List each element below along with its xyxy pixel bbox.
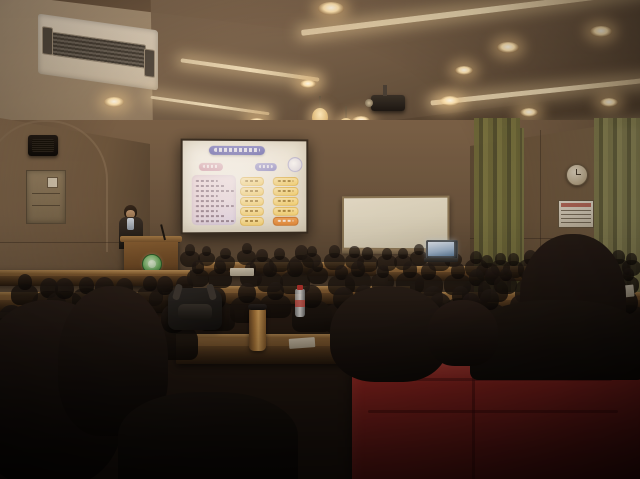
- audience-head: [421, 263, 436, 280]
- downlight-icon: [318, 2, 344, 15]
- bottle-label: [295, 300, 305, 307]
- audience-head: [185, 244, 196, 256]
- wall-control-panel[interactable]: [26, 170, 66, 224]
- jacket-seam: [472, 372, 475, 479]
- audience-head: [623, 268, 635, 281]
- panel-line: [32, 193, 60, 194]
- slide-left-category-label: [199, 163, 223, 171]
- slide-list-line: [196, 185, 226, 187]
- audience-head: [398, 248, 408, 259]
- podium-top: [120, 236, 182, 242]
- slide-option-box: [240, 177, 264, 186]
- audience-head: [382, 248, 392, 260]
- foreground-person: [118, 392, 298, 479]
- audience-head: [508, 253, 519, 266]
- projection-screen: [181, 139, 309, 235]
- audience-head: [403, 261, 418, 277]
- audience-head: [349, 246, 359, 257]
- tumbler-lid: [248, 304, 267, 310]
- water-bottle: [295, 289, 305, 317]
- audience-head: [377, 265, 389, 278]
- audience-head: [18, 274, 32, 290]
- desk-edge: [0, 270, 190, 274]
- audience-head: [312, 260, 323, 272]
- slide-option-text: [245, 220, 259, 222]
- audience-head: [242, 243, 252, 254]
- backpack-pocket: [178, 304, 212, 320]
- open-laptop[interactable]: [424, 240, 458, 262]
- slide-option-text: [278, 220, 294, 222]
- wall-poster: [558, 200, 594, 228]
- audience-head: [351, 261, 365, 277]
- audience-head: [495, 253, 505, 265]
- audience-head: [192, 260, 204, 273]
- downlight-icon: [455, 66, 473, 75]
- thermos-tumbler: [249, 308, 266, 351]
- audience-head: [263, 262, 277, 277]
- speaker-icon: [28, 135, 58, 156]
- slide-option-text: [278, 180, 294, 182]
- slide-option-text: [245, 190, 259, 192]
- projector-lens: [365, 99, 373, 107]
- slide-option-text: [245, 180, 259, 182]
- slide-list-line: [196, 210, 218, 212]
- slide-list-line: [196, 205, 234, 207]
- audience-head: [287, 259, 303, 277]
- audience-head: [274, 248, 285, 260]
- poster-line: [561, 210, 591, 211]
- student-backpack: [168, 288, 222, 330]
- downlight-icon: [440, 96, 460, 106]
- audience-head: [267, 282, 283, 300]
- slide-list-line: [196, 190, 234, 192]
- panel-line: [32, 205, 60, 206]
- presenter-shirt: [127, 218, 134, 230]
- downlight-icon: [300, 80, 316, 88]
- laptop-base: [424, 258, 458, 262]
- jacket-seam: [368, 410, 618, 413]
- slide-list-line: [196, 220, 234, 222]
- panel-switch[interactable]: [47, 177, 58, 188]
- slide-option-box: [240, 207, 264, 216]
- slide-option-boxes: [183, 141, 307, 142]
- projected-slide: [183, 141, 307, 233]
- slide-option-box-highlighted: [273, 217, 299, 226]
- slide-option-text: [278, 210, 294, 212]
- slide-title-text: [214, 148, 260, 152]
- slide-option-box: [273, 207, 299, 216]
- downlight-icon: [600, 98, 618, 107]
- slide-list-line: [196, 200, 226, 202]
- audience-head: [202, 246, 211, 256]
- audience-head: [256, 249, 268, 263]
- audience-head: [500, 268, 512, 281]
- slide-option-box: [240, 217, 264, 226]
- audience-head: [214, 260, 226, 274]
- poster-line: [561, 218, 591, 219]
- audience-head: [414, 244, 424, 255]
- poster-line: [561, 214, 591, 215]
- downlight-icon: [590, 26, 612, 37]
- slide-list-line: [196, 195, 218, 197]
- ac-vent-grille: [52, 32, 146, 69]
- slide-list-line: [196, 215, 226, 217]
- slide-pill-text: [259, 165, 273, 168]
- slide-option-box: [273, 177, 299, 186]
- audience-head: [626, 253, 636, 265]
- slide-option-text: [278, 190, 294, 192]
- ac-vent-slot: [144, 48, 155, 78]
- projector-mount: [383, 85, 387, 96]
- slide-option-text: [278, 200, 294, 202]
- audience-head: [362, 247, 373, 260]
- slide-list-line: [196, 180, 218, 182]
- clock-icon: [566, 164, 588, 186]
- audience-head: [220, 248, 231, 260]
- poster-line: [561, 222, 591, 223]
- lecture-hall-photo: [0, 0, 640, 479]
- audience-head: [55, 278, 74, 299]
- slide-left-list-panel: [192, 175, 236, 225]
- slide-option-text: [245, 200, 259, 202]
- slide-option-box: [273, 197, 299, 206]
- slide-option-text: [245, 210, 259, 212]
- slide-option-box: [240, 187, 264, 196]
- downlight-icon: [104, 97, 124, 107]
- laptop-screen: [428, 242, 454, 256]
- slide-title-banner: [209, 146, 265, 155]
- bottle-cap: [297, 285, 303, 290]
- downlight-icon: [497, 42, 519, 53]
- foreground-person: [428, 300, 498, 366]
- audience-head: [238, 283, 256, 303]
- paper-sheet: [230, 268, 254, 276]
- downlight-icon: [520, 108, 538, 117]
- slide-right-category-label: [255, 163, 277, 171]
- audience-head: [329, 245, 340, 258]
- poster-header: [561, 203, 591, 207]
- paper-sheet: [289, 337, 316, 349]
- slide-corner-badge: [288, 157, 303, 172]
- projector-icon: [371, 95, 405, 111]
- slide-pill-text: [203, 165, 219, 168]
- slide-option-box: [273, 187, 299, 196]
- audience-head: [307, 246, 317, 257]
- ac-vent-slot: [42, 26, 53, 56]
- audience-head: [451, 263, 465, 279]
- slide-option-box: [240, 197, 264, 206]
